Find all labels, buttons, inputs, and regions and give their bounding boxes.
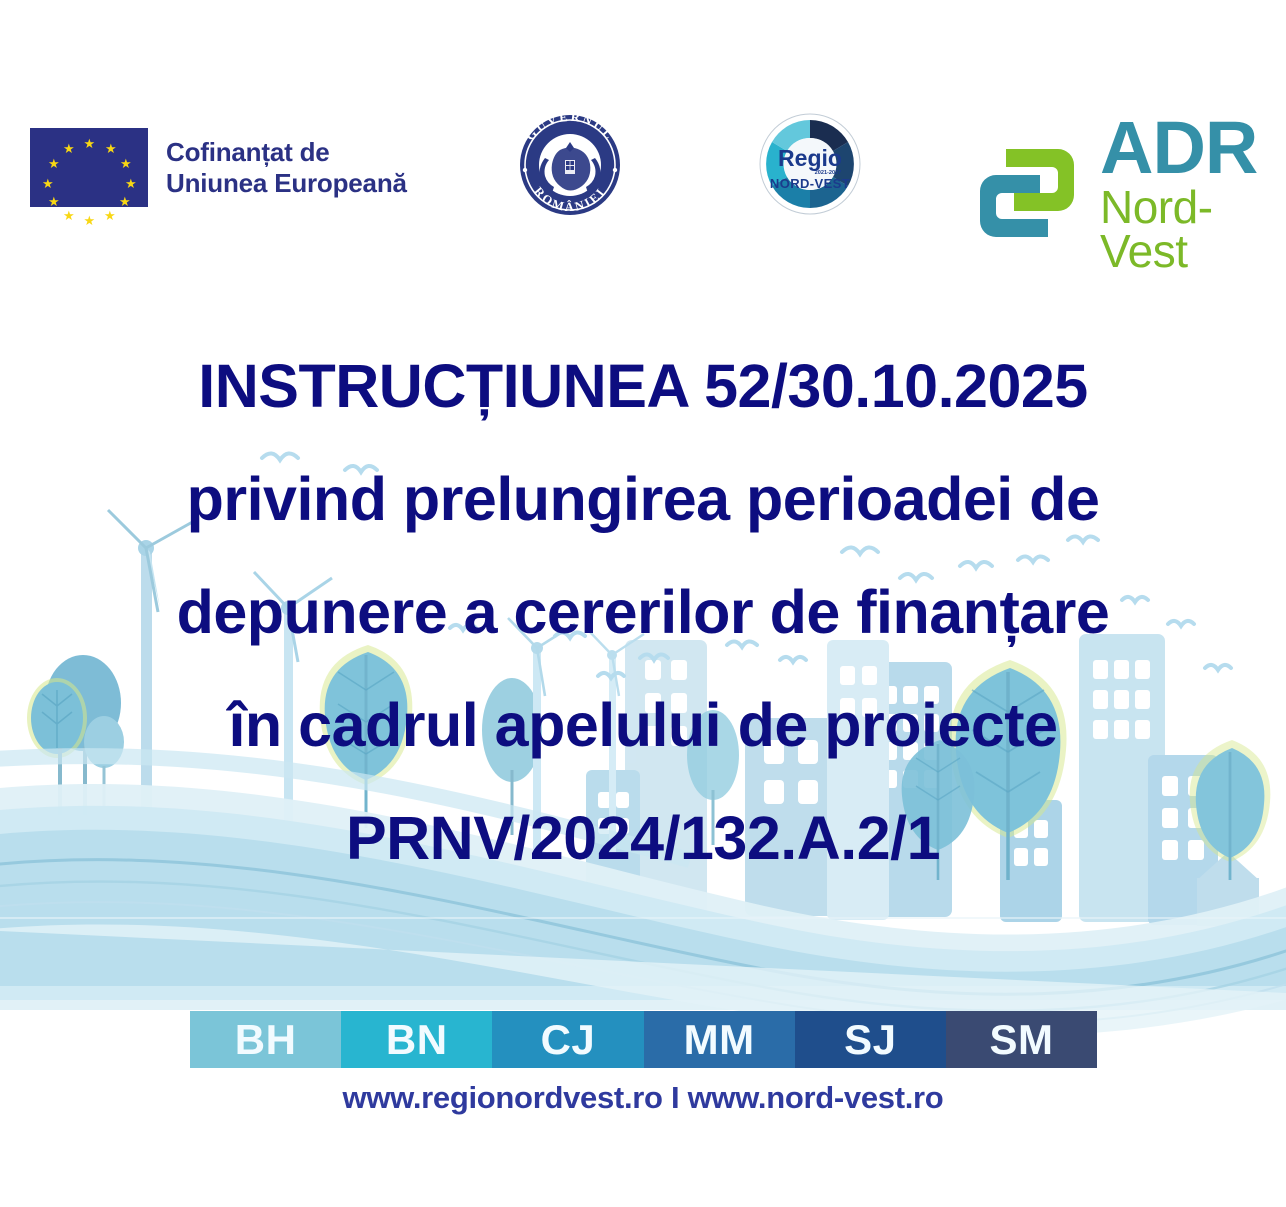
county-sm-label: SM bbox=[989, 1016, 1053, 1064]
county-codes-bar: BH BN CJ MM SJ SM bbox=[190, 1011, 1097, 1068]
eu-flag-icon: ★ ★ ★ ★ ★ ★ ★ ★ ★ ★ ★ ★ bbox=[30, 128, 148, 207]
adr-nord-vest-logo: ADR Nord-Vest bbox=[968, 112, 1286, 273]
county-bh: BH bbox=[190, 1011, 341, 1068]
county-sj-label: SJ bbox=[844, 1016, 896, 1064]
county-sj: SJ bbox=[795, 1011, 946, 1068]
adr-subtitle: Nord-Vest bbox=[1100, 185, 1286, 273]
regio-subtitle: NORD-VEST bbox=[770, 176, 850, 191]
headline-line-3: depunere a cererilor de finanțare bbox=[0, 556, 1286, 669]
county-bn: BN bbox=[341, 1011, 492, 1068]
county-cj-label: CJ bbox=[541, 1016, 596, 1064]
headline-line-2: privind prelungirea perioadei de bbox=[0, 443, 1286, 556]
headline-line-5: PRNV/2024/132.A.2/1 bbox=[0, 782, 1286, 895]
headline-line-1: INSTRUCȚIUNEA 52/30.10.2025 bbox=[0, 330, 1286, 443]
footer-website-links[interactable]: www.regionordvest.ro I www.nord-vest.ro bbox=[0, 1080, 1286, 1116]
guvernul-romaniei-seal: GUVERNUL ROMÂNIEI bbox=[505, 110, 635, 220]
county-bn-label: BN bbox=[386, 1016, 448, 1064]
county-cj: CJ bbox=[492, 1011, 643, 1068]
page-title: INSTRUCȚIUNEA 52/30.10.2025 privind prel… bbox=[0, 330, 1286, 895]
eu-emblem-text: Cofinanțat de Uniunea Europeană bbox=[166, 137, 407, 198]
footer-links-text[interactable]: www.regionordvest.ro I www.nord-vest.ro bbox=[343, 1080, 944, 1115]
county-mm: MM bbox=[644, 1011, 795, 1068]
county-sm: SM bbox=[946, 1011, 1097, 1068]
eu-text-line2: Uniunea Europeană bbox=[166, 168, 407, 199]
county-mm-label: MM bbox=[684, 1016, 755, 1064]
headline-line-4: în cadrul apelului de proiecte bbox=[0, 669, 1286, 782]
regio-wordmark: Regio bbox=[778, 145, 842, 171]
logo-bar: ★ ★ ★ ★ ★ ★ ★ ★ ★ ★ ★ ★ Cofinanțat de Un… bbox=[0, 0, 1286, 250]
adr-abbreviation: ADR bbox=[1100, 112, 1286, 183]
county-bh-label: BH bbox=[235, 1016, 297, 1064]
eu-emblem: ★ ★ ★ ★ ★ ★ ★ ★ ★ ★ ★ ★ Cofinanțat de Un… bbox=[30, 128, 407, 207]
regio-nord-vest-logo: Regio 2021-2027 NORD-VEST bbox=[740, 108, 880, 220]
adr-mark-icon bbox=[968, 143, 1086, 243]
eu-text-line1: Cofinanțat de bbox=[166, 137, 407, 168]
